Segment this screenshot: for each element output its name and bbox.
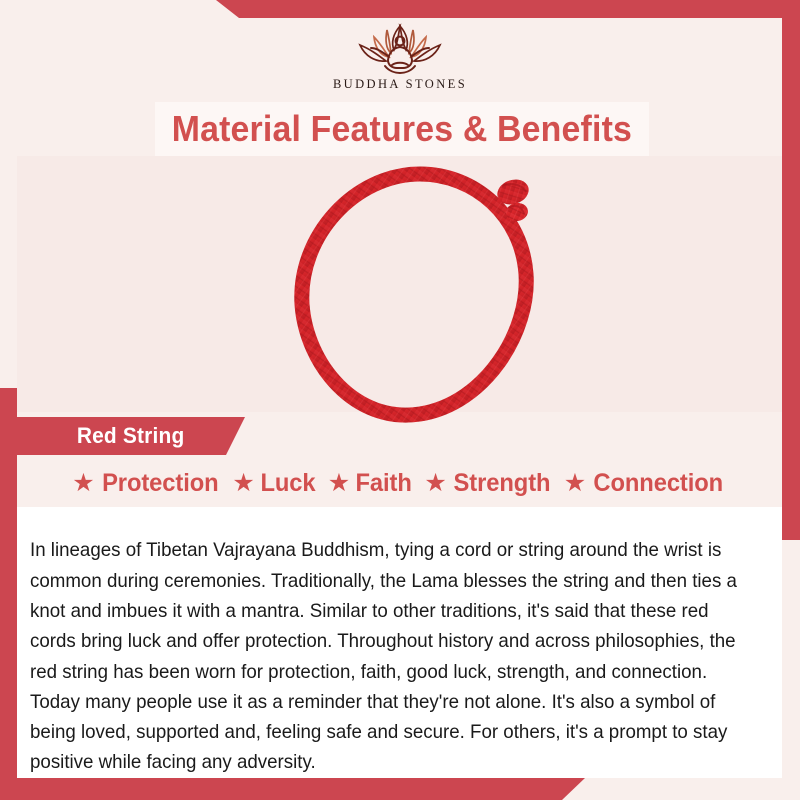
brand-name: BUDDHA STONES [333, 77, 467, 92]
star-icon: ★ [564, 471, 586, 496]
benefit-item-strength: ★ Strength [424, 469, 552, 498]
product-label-ribbon: Red String [17, 417, 245, 455]
page-title: Material Features & Benefits [172, 108, 632, 150]
red-braided-bracelet-image [270, 164, 570, 436]
top-red-band [0, 0, 800, 18]
bottom-red-band [0, 778, 800, 800]
description-panel: In lineages of Tibetan Vajrayana Buddhis… [17, 507, 782, 778]
lotus-meditation-icon [340, 18, 460, 76]
benefit-label: Luck [260, 469, 315, 498]
benefit-label: Faith [356, 469, 412, 498]
benefit-item-faith: ★ Faith [328, 469, 414, 498]
star-icon: ★ [424, 471, 446, 496]
brand-logo: BUDDHA STONES [0, 18, 800, 100]
benefits-row: ★ Protection ★ Luck ★ Faith ★ Strength ★… [17, 462, 782, 504]
benefit-item-luck: ★ Luck [232, 469, 316, 498]
description-text: In lineages of Tibetan Vajrayana Buddhis… [30, 535, 743, 777]
product-label: Red String [77, 423, 185, 449]
hero-image-area [17, 156, 782, 412]
title-panel: Material Features & Benefits [155, 102, 649, 156]
benefit-label: Connection [594, 469, 724, 498]
star-icon: ★ [232, 471, 254, 496]
infographic-page: BUDDHA STONES Material Features & Benefi… [0, 0, 800, 800]
benefit-item-protection: ★ Protection [72, 469, 221, 498]
star-icon: ★ [72, 471, 94, 496]
benefit-label: Protection [102, 469, 218, 498]
left-red-rail [0, 388, 17, 800]
star-icon: ★ [328, 471, 350, 496]
benefit-label: Strength [453, 469, 550, 498]
benefit-item-connection: ★ Connection [564, 469, 727, 498]
